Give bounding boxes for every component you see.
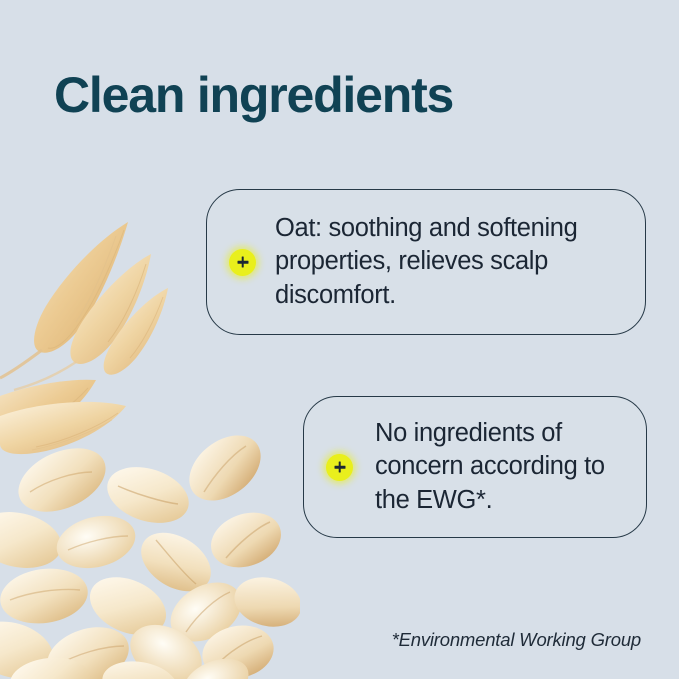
- ingredient-claims-poster: Clean ingredients Oat: soothing and soft…: [0, 0, 679, 679]
- claim-card-ewg: No ingredients of concern according to t…: [303, 396, 647, 538]
- footnote-text: *Environmental Working Group: [392, 629, 641, 651]
- plus-icon: [326, 454, 353, 481]
- plus-icon: [229, 249, 256, 276]
- claim-card-oat-text: Oat: soothing and softening properties, …: [256, 212, 645, 313]
- page-title: Clean ingredients: [54, 66, 453, 124]
- claim-card-oat: Oat: soothing and softening properties, …: [206, 189, 646, 335]
- claim-card-ewg-text: No ingredients of concern according to t…: [353, 417, 646, 518]
